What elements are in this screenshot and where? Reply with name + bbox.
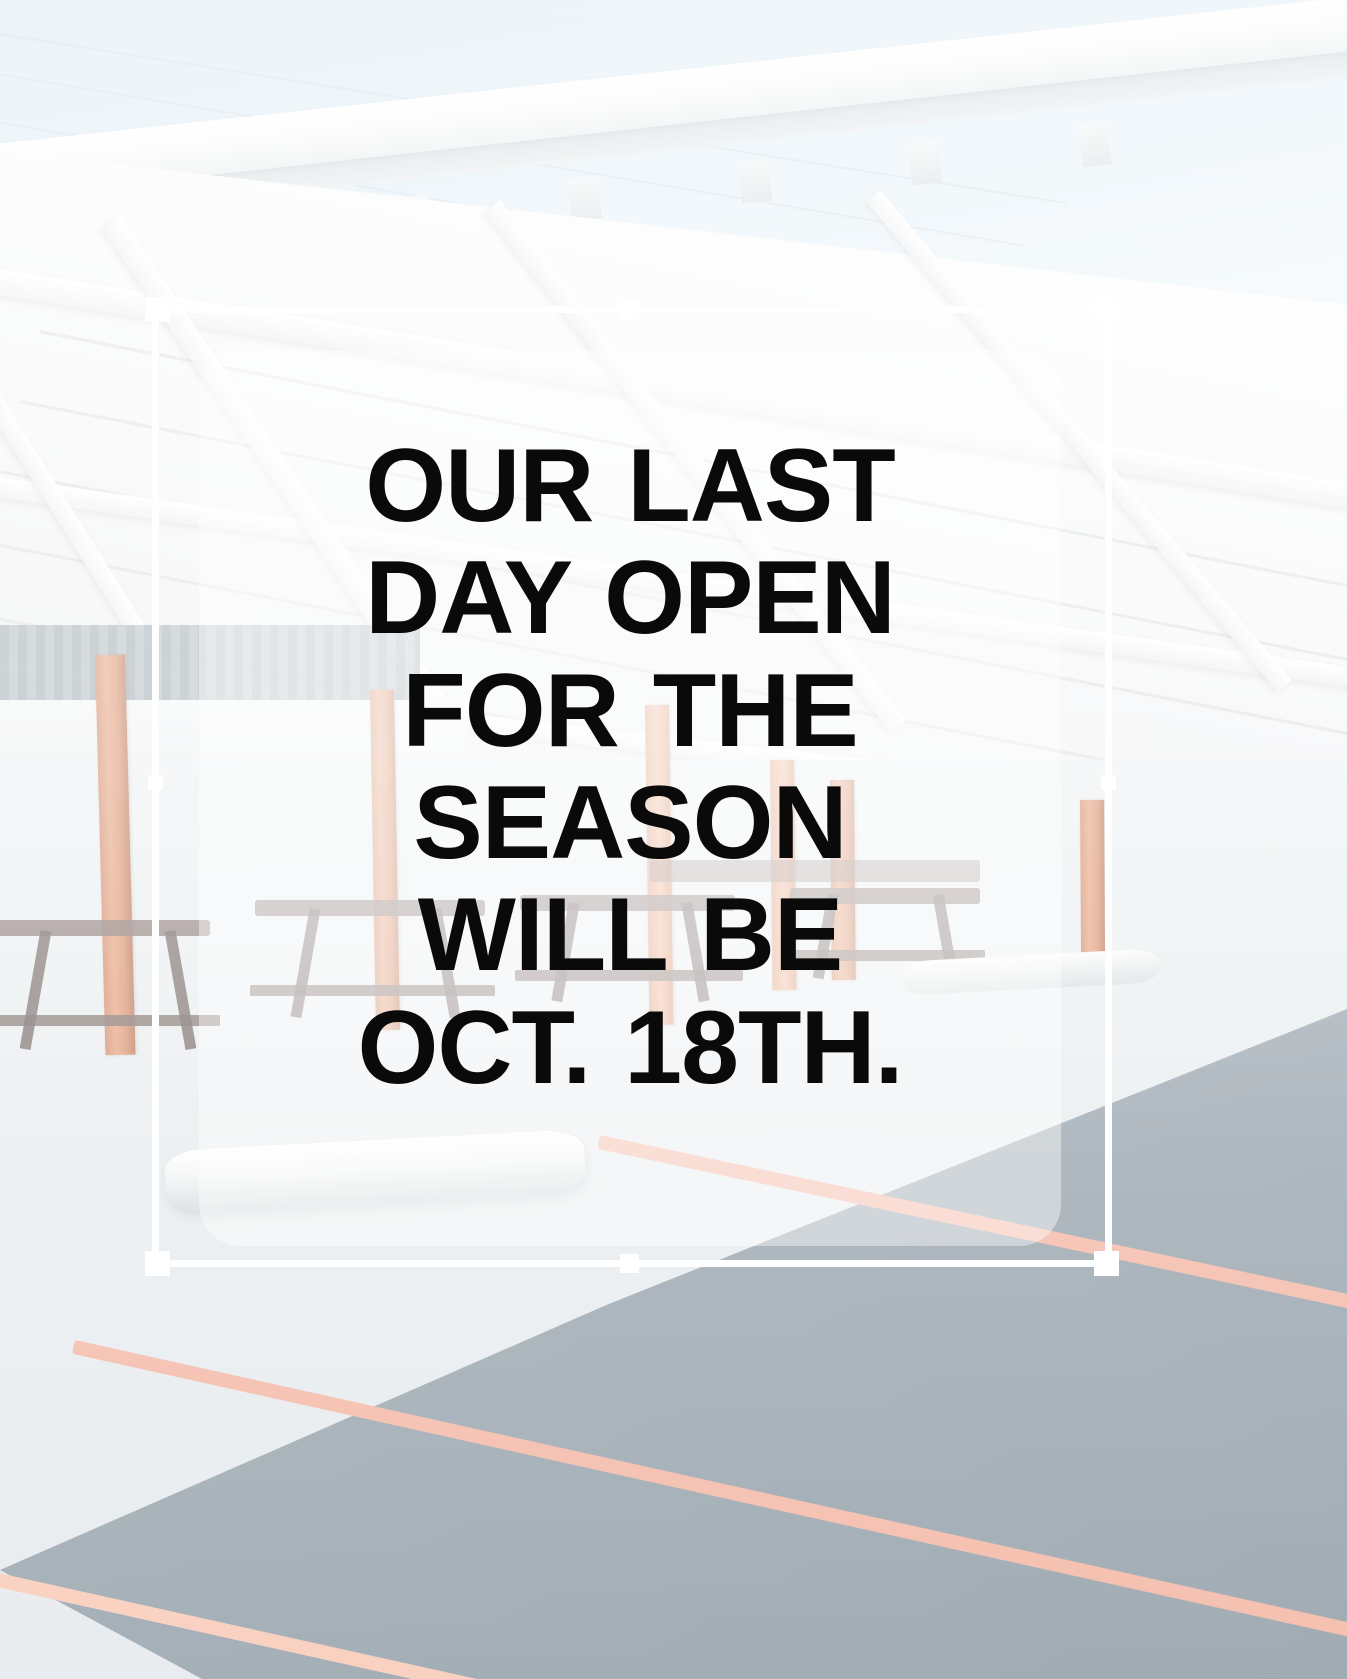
announcement-poster: OUR LAST DAY OPEN FOR THE SEASON WILL BE…	[0, 0, 1347, 1679]
headline-line-1: OUR LAST	[199, 430, 1061, 542]
headline-line-6: OCT. 18TH.	[199, 992, 1061, 1104]
headline-line-4: SEASON	[199, 767, 1061, 879]
headline-line-2: DAY OPEN	[199, 542, 1061, 654]
headline: OUR LAST DAY OPEN FOR THE SEASON WILL BE…	[199, 430, 1061, 1104]
headline-line-5: WILL BE	[199, 879, 1061, 991]
headline-line-3: FOR THE	[199, 655, 1061, 767]
